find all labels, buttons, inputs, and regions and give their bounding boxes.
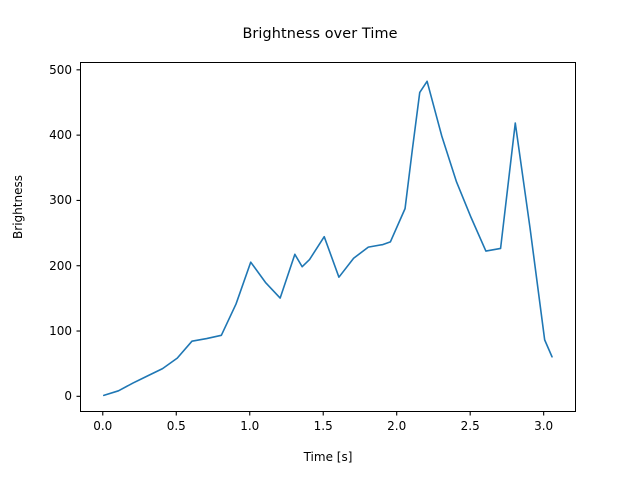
figure-canvas: Brightness over Time Brightness Time [s]… — [0, 0, 640, 480]
y-tick-label: 200 — [10, 259, 72, 273]
data-line-svg — [81, 63, 577, 413]
series-brightness-line — [104, 81, 552, 395]
y-tick-label: 500 — [10, 63, 72, 77]
chart-title: Brightness over Time — [0, 26, 640, 42]
x-axis-tick-labels: 0.00.51.01.52.02.53.0 — [80, 419, 576, 439]
x-tick-label: 3.0 — [514, 419, 574, 433]
y-tick-label: 300 — [10, 193, 72, 207]
x-tick-label: 1.5 — [293, 419, 353, 433]
x-axis-label: Time [s] — [80, 450, 576, 464]
y-tick-label: 100 — [10, 324, 72, 338]
x-tick-label: 1.0 — [220, 419, 280, 433]
x-tick-label: 2.5 — [440, 419, 500, 433]
y-tick-label: 0 — [10, 389, 72, 403]
x-tick-label: 0.0 — [73, 419, 133, 433]
y-axis-tick-labels: 0100200300400500 — [8, 62, 72, 412]
x-tick-label: 2.0 — [367, 419, 427, 433]
x-tick-label: 0.5 — [146, 419, 206, 433]
plot-area — [80, 62, 576, 412]
y-tick-label: 400 — [10, 128, 72, 142]
